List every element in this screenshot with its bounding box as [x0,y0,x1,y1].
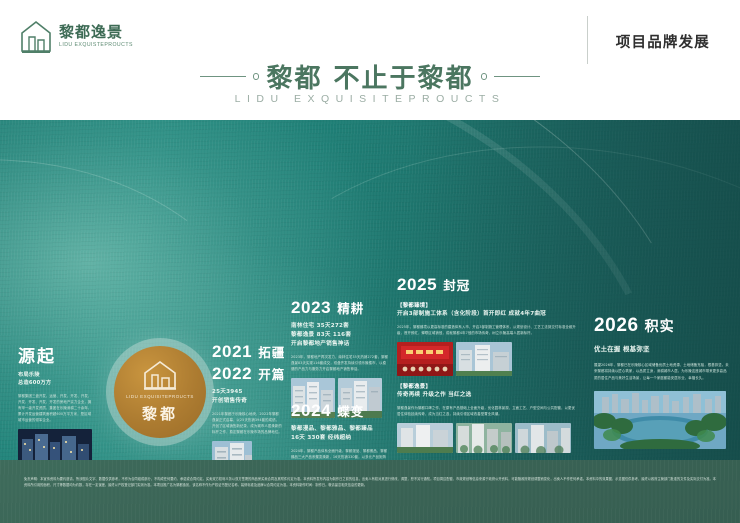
center-emblem-disc: LIDU EXQUISITEPROUCTS 黎都 [114,346,206,438]
y2025-s2-label: 【黎都逸景】 [397,382,577,390]
photo-thumb[interactable] [18,429,92,460]
y2024-year: 2024 [291,401,331,421]
header-section-title: 项目品牌发展 [616,31,710,52]
photo-thumb[interactable] [515,423,571,453]
origin-title-row: 源起 [18,342,94,367]
brand-name-cn: 黎都逸景 [59,25,133,40]
footer-texture [0,460,740,523]
y2022-tag: 开篇 [258,364,285,383]
brand-logo: 黎都逸景 LIDU EXQUISTEPROUCTS [20,20,133,54]
y2026-lead: 优土在握 根基弥坚 [594,344,729,354]
y2025-tag: 封冠 [443,275,470,294]
photo-thumb[interactable] [397,342,453,376]
house-logo-icon [20,20,52,54]
y2025-s1-photos [397,342,577,376]
y2021-row-b: 2022 开篇 [212,364,282,384]
timeline-node-2024: 2024 蝶变 黎都漫品、黎都雅品、黎都臻品 16天 330套 经纬超纳 202… [291,401,389,460]
y2026-tag: 积实 [645,316,675,336]
y2025-row: 2025 封冠 [397,275,577,295]
y2024-tag: 蝶变 [337,401,364,420]
y2025-s2-lead: 传奇再续 升级之作 当红之选 [397,391,577,400]
y2024-lead: 黎都漫品、黎都雅品、黎都臻品 16天 330套 经纬超纳 [291,425,389,443]
photo-thumb[interactable] [594,391,726,449]
timeline-board: LIDU EXQUISITEPROUCTS 黎都 源起 布局乐陵 总造600万方… [0,120,740,460]
title-dot-right [481,73,488,80]
origin-title: 源起 [18,342,56,367]
origin-lead: 布局乐陵 总造600万方 [18,371,94,388]
page-title: 黎都 不止于黎都 [266,58,473,95]
y2021-lead: 25天3945 开创销售传奇 [212,388,282,406]
timeline-node-2025: 2025 封冠 【黎都臻境】 开启3部制施工体系（含化阶段）首开即红 成就4年7… [397,275,577,460]
photo-thumb[interactable] [212,441,252,460]
y2025-s1-lead: 开启3部制施工体系（含化阶段）首开即红 成就4年7曲冠 [397,310,577,319]
page-footer: 免责声明：本宣传资料为要约邀请，所涉图片文字、数据仅供参考，不作为合同组成部分，… [0,460,740,523]
emblem-cn-text: 黎都 [142,403,178,424]
title-dot-left [253,73,260,80]
header-divider [587,16,588,64]
title-rule-right [494,76,540,77]
brand-logo-text: 黎都逸景 LIDU EXQUISTEPROUCTS [59,25,133,48]
y2024-body: 2024年，黎都产品体系全面升级，黎都漫品、黎都雅品、黎都臻品三大产品系蝶变焕新… [291,448,389,460]
y2021-body: 2021年黎都于乐陵核心地块，2022年黎都逸景正式启幕，以25天热销394套的… [212,411,282,435]
y2021-photos [212,441,282,460]
title-rule-left [200,76,246,77]
y2023-tag: 精耕 [337,298,364,317]
emblem-en-text: LIDU EXQUISITEPROUCTS [126,394,194,399]
main-title-row: 黎都 不止于黎都 [0,58,740,95]
footer-disclaimer: 免责声明：本宣传资料为要约邀请，所涉图片文字、数据仅供参考，不作为合同组成部分，… [24,476,716,488]
y2021-year: 2021 [212,342,252,362]
timeline-node-2026: 2026 积实 优土在握 根基弥坚 展望2026年，黎都已在乐陵核心区域储备优质… [594,315,729,449]
y2023-year: 2023 [291,298,331,318]
y2026-photos [594,391,729,449]
y2023-lead: 南林住宅 35天272套 黎都逸景 83天 116套 开启黎都地产销售神话 [291,322,389,349]
y2026-year: 2026 [594,315,639,337]
y2021-tag: 拓疆 [258,342,285,361]
y2021-row-a: 2021 拓疆 [212,342,282,362]
photo-thumb[interactable] [456,423,512,453]
photo-thumb[interactable] [397,423,453,453]
y2023-row: 2023 精耕 [291,298,389,318]
page-subtitle: LIDU EXQUISITEPROUCTS [0,93,740,105]
y2025-s1-label: 【黎都臻境】 [397,301,577,309]
photo-thumb[interactable] [456,342,512,376]
y2022-year: 2022 [212,364,252,384]
y2024-row: 2024 蝶变 [291,401,389,421]
page-header: 黎都逸景 LIDU EXQUISTEPROUCTS 项目品牌发展 黎都 不止于黎… [0,0,740,120]
center-emblem: LIDU EXQUISITEPROUCTS 黎都 [106,338,214,446]
timeline-node-2021: 2021 拓疆 2022 开篇 25天3945 开创销售传奇 2021年黎都于乐… [212,342,282,460]
origin-body: 黎都集团三盘开发、运营、开发、开发、开发、开发、开发、开发、开发的房地产实力企业… [18,393,94,423]
y2025-year: 2025 [397,275,437,295]
y2023-body: 2023年，黎都地产再次发力，南林住宅35天热销272套，黎都逸景83天实现11… [291,354,389,372]
y2025-s2-photos [397,423,577,453]
y2026-body: 展望2026年，黎都已在乐陵核心区域储备优质土地资源，土地储备充裕，根基弥坚。未… [594,362,729,380]
y2026-row: 2026 积实 [594,315,729,337]
poster-root: 黎都逸景 LIDU EXQUISTEPROUCTS 项目品牌发展 黎都 不止于黎… [0,0,740,523]
emblem-house-icon [143,361,177,391]
y2025-s1-body: 2025年，黎都臻境以更高标准的建造体系入市，开启3部制施工管理体系，从规划设计… [397,324,577,336]
origin-photos [18,429,94,460]
y2025-s2-body: 黎都逸景作为黎都口碑之作，在原有产品基础上全面升级，优化园林景观、立面工艺、户型… [397,405,577,417]
timeline-node-origin: 源起 布局乐陵 总造600万方 黎都集团三盘开发、运营、开发、开发、开发、开发、… [18,342,94,460]
brand-name-en: LIDU EXQUISTEPROUCTS [59,43,133,48]
